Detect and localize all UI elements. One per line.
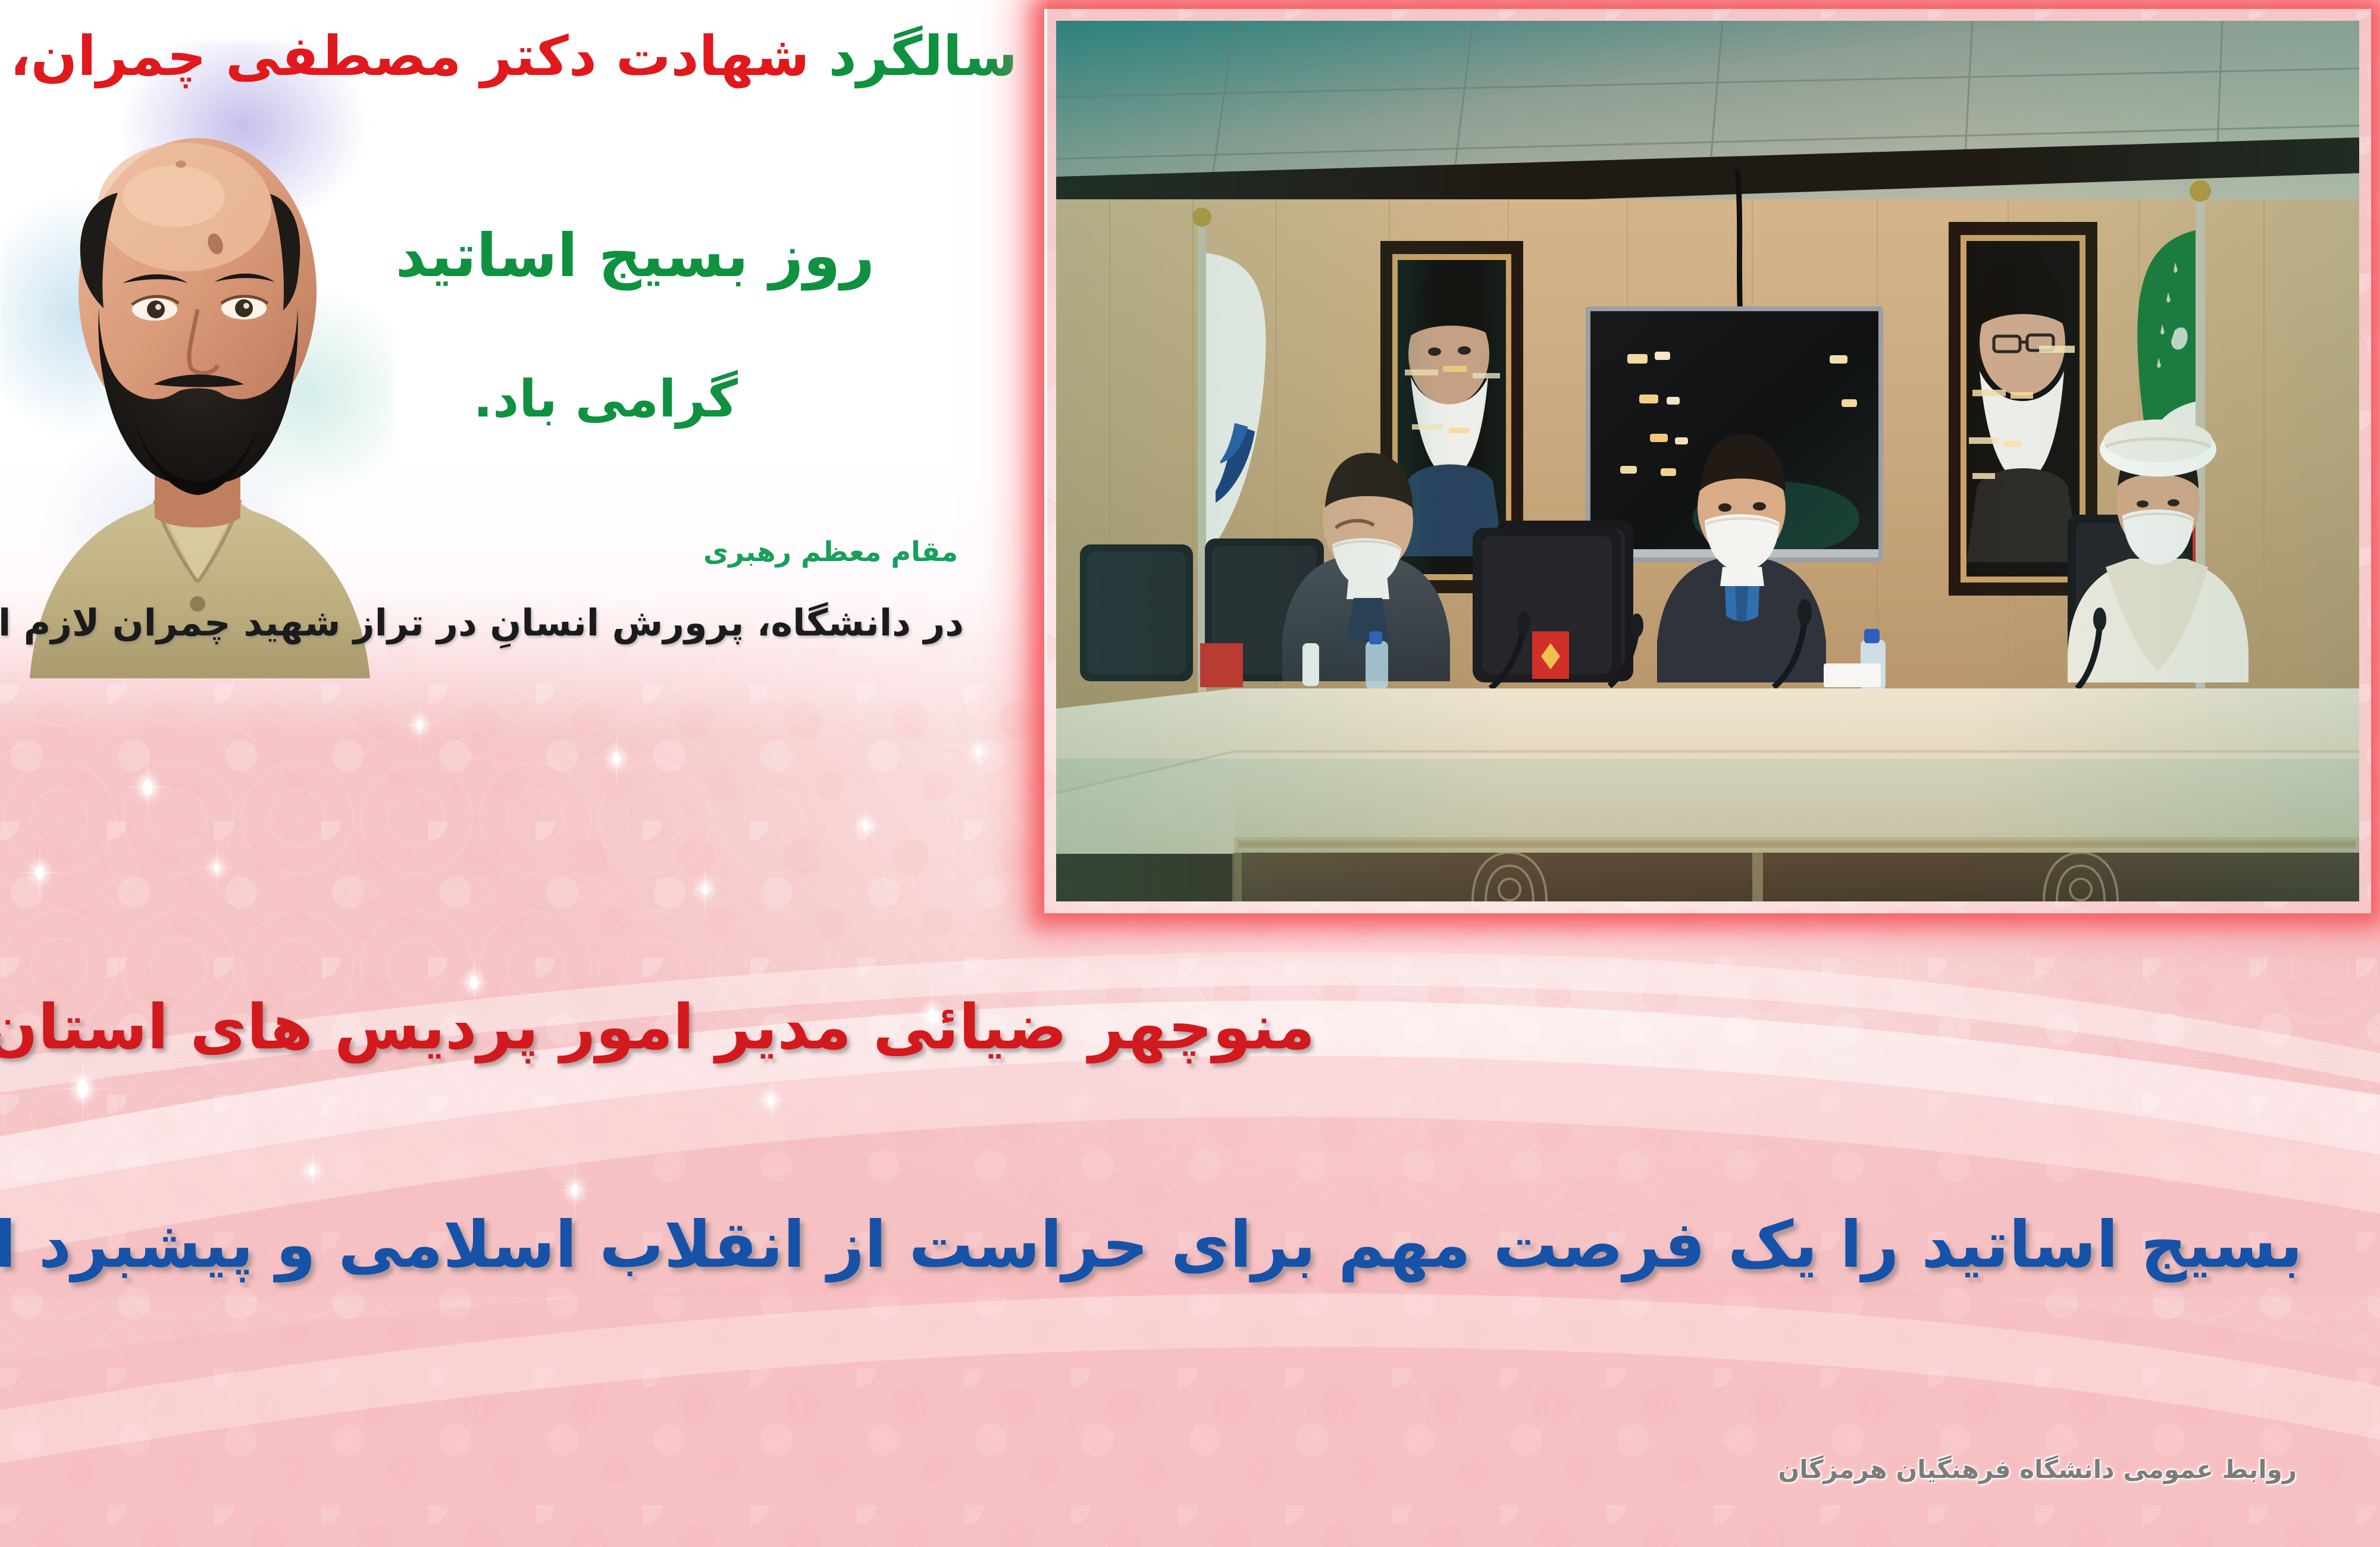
- headline-line-2: روز بسیج اساتید: [396, 220, 875, 292]
- chamran-portrait-block: [0, 12, 405, 678]
- headline-line-1-prefix: سالگرد: [809, 24, 1017, 88]
- public-relations-watermark: روابط عمومی دانشگاه فرهنگیان هرمزگان: [1778, 1455, 2297, 1484]
- shahid-chamran-portrait: [6, 48, 387, 678]
- leader-quote: در دانشگاه، پرورش انسانِ در تراز شهید چم…: [0, 601, 964, 644]
- headline-line-1: سالگرد شهادت دکتر مصطفی چمران،: [10, 24, 1017, 89]
- headline-line-1-emphasis: شهادت دکتر مصطفی چمران،: [10, 24, 810, 88]
- headline-line-3: گرامی باد.: [473, 369, 738, 430]
- caption-speaker-name: منوچهر ضیائی مدیر امور پردیس های استان: [0, 991, 1315, 1063]
- leader-attribution: مقام معظم رهبری: [703, 535, 958, 568]
- poster-root: سالگرد شهادت دکتر مصطفی چمران، روز بسیج …: [0, 0, 2380, 1547]
- meeting-hall-photo: [1056, 21, 2359, 901]
- caption-statement: بسیج اساتید را یک فرصت مهم برای حراست از…: [0, 1208, 2303, 1282]
